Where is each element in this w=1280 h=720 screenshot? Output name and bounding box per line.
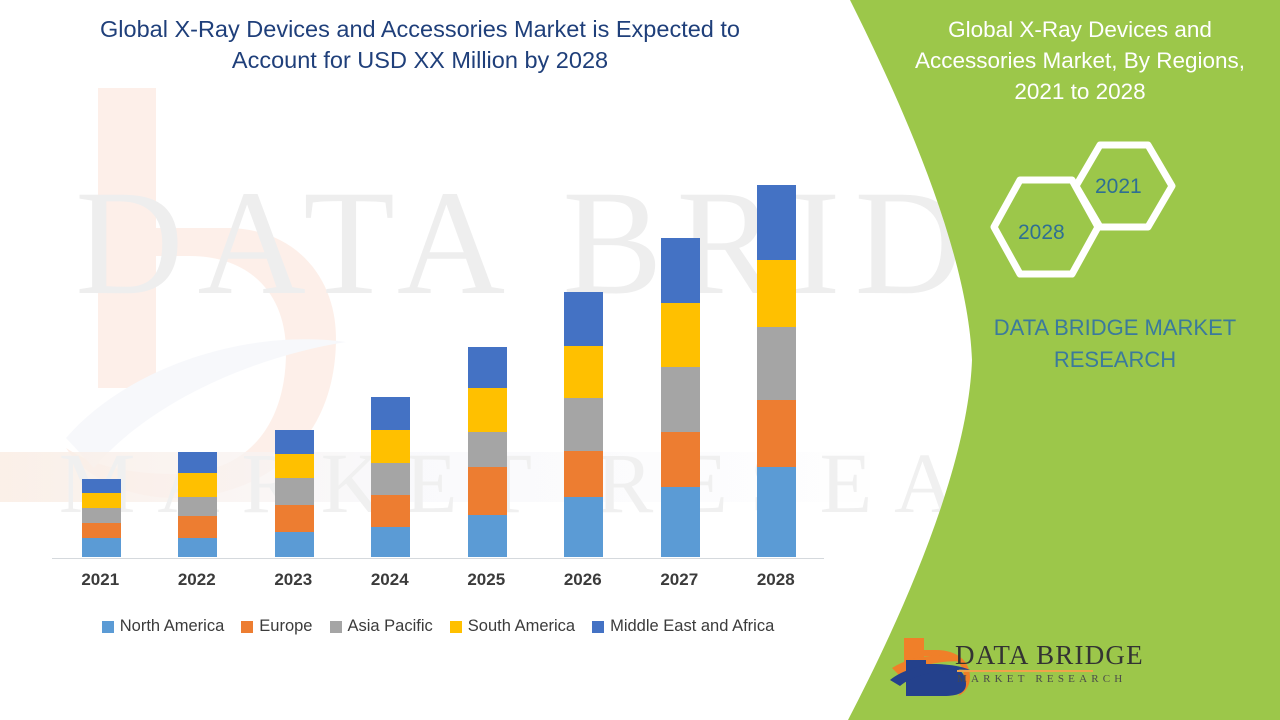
bar-segment[interactable] [468,467,507,515]
bar-group-2023[interactable] [275,430,314,557]
bar-segment[interactable] [757,185,796,260]
legend-label: South America [468,617,575,636]
bar-segment[interactable] [564,398,603,451]
bar-segment[interactable] [661,303,700,367]
panel-brand-line-2: RESEARCH [960,344,1270,376]
bar-segment[interactable] [371,397,410,430]
hexagon-label-2028: 2028 [1018,221,1065,245]
panel-brand-line-1: DATA BRIDGE MARKET [960,312,1270,344]
bar-segment[interactable] [661,238,700,303]
bar-group-2026[interactable] [564,292,603,557]
legend-item-0[interactable]: North America [102,617,225,636]
logo-divider [957,670,1093,672]
bar-segment[interactable] [757,327,796,400]
x-tick-label-2027: 2027 [631,570,727,590]
logo-wordmark: DATA BRIDGE [955,640,1144,671]
slide-canvas: DATA BRIDGE MARKET RESEARCH Global X-Ray… [0,0,1280,720]
bar-segment[interactable] [564,497,603,557]
bar-group-2028[interactable] [757,185,796,557]
bar-segment[interactable] [371,495,410,527]
x-tick-label-2021: 2021 [52,570,148,590]
bar-group-2021[interactable] [82,479,121,557]
x-tick-label-2028: 2028 [728,570,824,590]
bar-segment[interactable] [275,430,314,454]
bar-segment[interactable] [82,493,121,508]
bar-segment[interactable] [178,452,217,473]
bar-segment[interactable] [178,538,217,557]
bar-segment[interactable] [468,347,507,388]
bar-segment[interactable] [564,451,603,497]
legend-swatch-icon [102,621,114,633]
chart-legend: North AmericaEuropeAsia PacificSouth Ame… [52,617,824,636]
legend-item-1[interactable]: Europe [241,617,312,636]
legend-swatch-icon [592,621,604,633]
bar-segment[interactable] [661,487,700,557]
legend-swatch-icon [241,621,253,633]
plot-area [52,100,824,559]
bar-group-2025[interactable] [468,347,507,557]
legend-label: Asia Pacific [348,617,433,636]
legend-swatch-icon [450,621,462,633]
legend-item-3[interactable]: South America [450,617,575,636]
legend-swatch-icon [330,621,342,633]
bar-segment[interactable] [82,538,121,557]
x-tick-label-2023: 2023 [245,570,341,590]
x-tick-label-2024: 2024 [342,570,438,590]
bar-segment[interactable] [275,505,314,532]
x-axis-line [52,558,824,559]
bar-segment[interactable] [371,527,410,557]
bar-segment[interactable] [82,479,121,493]
bar-segment[interactable] [564,292,603,346]
legend-label: North America [120,617,225,636]
bar-group-2027[interactable] [661,238,700,557]
bar-segment[interactable] [468,515,507,557]
legend-item-4[interactable]: Middle East and Africa [592,617,774,636]
bar-segment[interactable] [468,432,507,467]
x-axis-tick-labels: 20212022202320242025202620272028 [52,570,824,598]
bar-segment[interactable] [178,516,217,538]
bar-group-2022[interactable] [178,452,217,557]
hexagon-label-2021: 2021 [1095,175,1142,199]
bar-segment[interactable] [275,478,314,505]
bar-segment[interactable] [275,532,314,557]
bar-group-2024[interactable] [371,397,410,557]
x-tick-label-2025: 2025 [438,570,534,590]
bar-segment[interactable] [661,432,700,487]
bar-segment[interactable] [757,260,796,327]
logo-subtitle: MARKET RESEARCH [957,673,1126,685]
legend-label: Europe [259,617,312,636]
bar-segment[interactable] [757,467,796,557]
panel-brand-text: DATA BRIDGE MARKET RESEARCH [960,312,1270,376]
legend-label: Middle East and Africa [610,617,774,636]
bar-segment[interactable] [757,400,796,467]
year-hexagons-group [980,140,1190,285]
panel-title: Global X-Ray Devices and Accessories Mar… [895,14,1265,107]
chart-title: Global X-Ray Devices and Accessories Mar… [62,14,778,76]
bar-segment[interactable] [82,508,121,523]
bar-segment[interactable] [468,388,507,432]
x-tick-label-2022: 2022 [149,570,245,590]
bar-segment[interactable] [82,523,121,538]
bar-segment[interactable] [275,454,314,478]
bar-segment[interactable] [178,497,217,516]
legend-item-2[interactable]: Asia Pacific [330,617,433,636]
bar-segment[interactable] [178,473,217,497]
bar-segment[interactable] [564,346,603,398]
bar-segment[interactable] [661,367,700,432]
x-tick-label-2026: 2026 [535,570,631,590]
bar-segment[interactable] [371,430,410,463]
bar-segment[interactable] [371,463,410,495]
